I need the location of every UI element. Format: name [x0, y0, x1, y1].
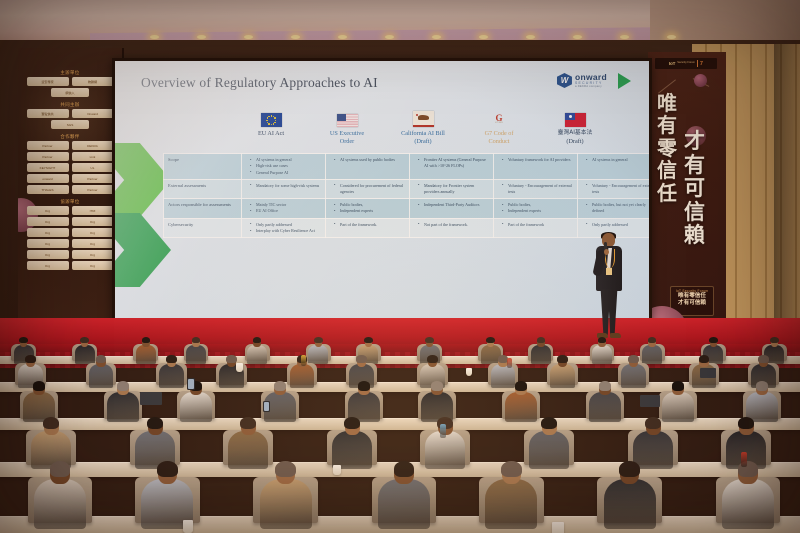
- column-header-label: Conduct: [461, 138, 537, 146]
- audience-person-hair: [314, 337, 323, 343]
- audience-person-body: [308, 345, 328, 364]
- table-cell: Independent Third-Party Auditors: [410, 199, 494, 219]
- audience-table: [0, 356, 800, 364]
- table-cell-bullet: Interplay with Cyber Resilience Act: [252, 228, 322, 234]
- audience-person-body: [722, 479, 774, 528]
- event-logo-number: 7: [700, 61, 703, 67]
- sponsor-logo-row: 網信入: [18, 88, 122, 97]
- table-cell: Mandatory for some high-risk systems: [242, 179, 326, 198]
- paper-cup: [552, 522, 564, 533]
- sponsor-section-heading: 協辦單位: [18, 199, 122, 205]
- sponsor-logo: onward: [27, 174, 69, 183]
- table-cell-bullet: Voluntary - Encouragement of external te…: [588, 183, 649, 195]
- paper-cup: [183, 520, 193, 533]
- ceiling-spotlight: [197, 35, 206, 39]
- audience-person-hair: [226, 355, 237, 363]
- audience-person-hair: [50, 461, 71, 477]
- sponsor-logo: Partner: [72, 185, 114, 194]
- audience-person-hair: [80, 337, 89, 343]
- table-cell: Part of the framework: [494, 218, 578, 238]
- sponsor-logo: Org: [27, 228, 69, 237]
- audience-person-hair: [515, 381, 528, 391]
- ceiling-spotlight: [150, 35, 159, 39]
- sponsor-logo: Partner: [27, 152, 69, 161]
- column-header: US ExecutiveOrder: [309, 109, 385, 146]
- table-row: ScopeAI systems in generalHigh-risk use …: [164, 154, 650, 180]
- audience-person-hair: [157, 461, 178, 477]
- sponsor-logo-row: OrgOrg: [18, 261, 122, 270]
- event-logo-main: IoT: [669, 61, 675, 66]
- sponsor-logo-row: SGS: [18, 120, 122, 129]
- column-header-label: (Draft): [385, 138, 461, 146]
- audience-person-body: [633, 431, 673, 469]
- table-cell-bullet: High-risk use cases: [252, 163, 322, 169]
- column-header: 臺灣AI基本法(Draft): [537, 109, 613, 146]
- table-cell-bullet: Mainly TIC sector: [252, 202, 322, 208]
- ceiling-spotlight: [338, 35, 347, 39]
- audience-person-body: [290, 364, 315, 388]
- table-cell-bullet: Public bodies, but not yet clearly defin…: [588, 202, 649, 214]
- drink-bottle: [440, 424, 446, 438]
- audience-person-body: [260, 479, 312, 528]
- audience-person-body: [621, 364, 646, 388]
- paper-cup: [333, 465, 341, 475]
- table-row-label: Scope: [164, 154, 242, 180]
- ceiling-spotlight: [667, 35, 676, 39]
- regulatory-comparison-table: ScopeAI systems in generalHigh-risk use …: [163, 153, 649, 238]
- table-cell-bullet: Voluntary - Encouragement of external te…: [504, 183, 574, 195]
- table-cell-bullet: Part of the framework: [504, 222, 574, 228]
- ceiling-spotlight: [479, 35, 488, 39]
- table-cell-bullet: Independent experts: [504, 208, 574, 214]
- table-row: External assessmentsMandatory for some h…: [164, 179, 650, 198]
- event-logo-divider: [697, 60, 698, 67]
- table-cell: AI systems used by public bodies: [326, 154, 410, 180]
- audience-person-hair: [96, 355, 107, 363]
- play-triangle-icon: [618, 73, 631, 89]
- column-header-label: Order: [309, 138, 385, 146]
- sponsor-section-heading: 主辦單位: [18, 70, 122, 76]
- table-cell-bullet: Mandatory for some high-risk systems: [252, 183, 322, 189]
- audience-person-hair: [117, 381, 130, 391]
- table-cell-bullet: Not part of the framework.: [420, 222, 490, 228]
- audience-person-body: [589, 392, 620, 422]
- audience-person-body: [107, 392, 138, 422]
- audience-person-hair: [43, 417, 59, 429]
- audience-person-hair: [599, 381, 612, 391]
- column-header-label: (Draft): [537, 138, 613, 146]
- audience-person-body: [247, 345, 267, 364]
- table-cell: Voluntary - Encouragement of external te…: [578, 179, 650, 198]
- sponsor-logo-row: KEYSIGHTUL: [18, 163, 122, 172]
- column-header-spacer: [163, 109, 233, 146]
- audience-person-hair: [699, 355, 710, 363]
- sponsor-logo-row: OrgITRI: [18, 206, 122, 215]
- event-banner: IoT Security Forum 7 唯有零信任 才有可信賴 IoT Sec…: [648, 52, 726, 340]
- column-header-label: California AI Bill: [385, 130, 461, 138]
- onward-hex-letter: W: [561, 76, 569, 85]
- table-cell-bullet: Frontier AI systems (General Purpose AI …: [420, 157, 490, 169]
- table-cell-bullet: EU AI Office: [252, 208, 322, 214]
- table-cell-bullet: Part of the framework.: [336, 222, 406, 228]
- audience-person-hair: [619, 461, 640, 477]
- sponsor-logo-row: 實電信共Onward: [18, 109, 122, 118]
- table-cell-bullet: Public bodies,: [504, 202, 574, 208]
- audience-person-hair: [19, 337, 28, 343]
- ceiling-spotlight: [620, 35, 629, 39]
- audience-person-hair: [770, 337, 779, 343]
- drink-bottle: [741, 452, 747, 467]
- audience-person-body: [75, 345, 95, 364]
- drink-bottle: [507, 358, 512, 368]
- table-cell: Frontier AI systems (General Purpose AI …: [410, 154, 494, 180]
- audience-person-hair: [275, 461, 296, 477]
- audience-area: [0, 330, 800, 533]
- comparison-column-headers: EU AI ActUS ExecutiveOrderCalifornia AI …: [163, 109, 613, 146]
- table-cell: Voluntary framework for AI providers: [494, 154, 578, 180]
- audience-person-hair: [344, 417, 360, 429]
- taiwan-flag: [537, 111, 613, 127]
- drink-bottle: [301, 355, 306, 366]
- audience-person-hair: [253, 337, 262, 343]
- paper-cup: [236, 363, 243, 372]
- audience-person-hair: [425, 337, 434, 343]
- column-header-label: EU AI Act: [233, 130, 309, 138]
- table-row: CybersecurityOnly partly addressedInterp…: [164, 218, 650, 238]
- table-row: Actors responsible for assessmentsMainly…: [164, 199, 650, 219]
- audience-person-hair: [240, 417, 256, 429]
- speaker-badge: [606, 268, 612, 275]
- sponsor-logo: Partner: [72, 174, 114, 183]
- decor-planet: [694, 74, 707, 87]
- table-cell-bullet: Voluntary framework for AI providers: [504, 157, 574, 163]
- onward-hex-icon: W: [557, 73, 572, 88]
- ceiling-spotlight: [385, 35, 394, 39]
- column-header-label: G7 Code of: [461, 130, 537, 138]
- table-cell: Part of the framework.: [326, 218, 410, 238]
- audience-person-hair: [557, 355, 568, 363]
- column-header-label: US Executive: [309, 130, 385, 138]
- audience-person-body: [505, 392, 536, 422]
- laptop: [140, 392, 162, 405]
- eu-flag: [233, 111, 309, 127]
- onward-security-logo: W onward SECURITY a DEKRA company: [557, 73, 607, 88]
- sponsor-logo: KEYSIGHT: [27, 163, 69, 172]
- column-header: GG7 2023G7 Code ofConduct: [461, 109, 537, 146]
- table-cell: Mainly TIC sectorEU AI Office: [242, 199, 326, 219]
- audience-person-hair: [709, 337, 718, 343]
- audience-person-body: [159, 364, 184, 388]
- audience-person-hair: [756, 381, 769, 391]
- audience-person-body: [662, 392, 693, 422]
- table-row-label: External assessments: [164, 179, 242, 198]
- speaker-hand: [604, 249, 609, 255]
- g7-mark: GG7 2023: [461, 111, 537, 127]
- event-logo: IoT Security Forum 7: [655, 58, 717, 69]
- laptop: [640, 395, 660, 407]
- sponsor-logo: Partner: [27, 141, 69, 150]
- audience-person-hair: [672, 381, 685, 391]
- smartphone: [263, 401, 270, 412]
- audience-person-body: [485, 479, 537, 528]
- photo-scene: 主辦單位資安專家物聯網網信入共同主辦實電信共OnwardSGS合作夥伴Partn…: [0, 0, 800, 533]
- speaker: [591, 233, 627, 343]
- audience-person-body: [228, 431, 268, 469]
- sponsor-logo: 物聯網: [72, 77, 114, 86]
- audience-person-hair: [427, 355, 438, 363]
- table-cell-bullet: Independent experts: [336, 208, 406, 214]
- sponsor-wall: 主辦單位資安專家物聯網網信入共同主辦實電信共OnwardSGS合作夥伴Partn…: [18, 48, 124, 340]
- sponsor-logo-row: 資安專家物聯網: [18, 77, 122, 86]
- audience-person-hair: [598, 337, 607, 343]
- audience-person-hair: [541, 417, 557, 429]
- audience-person-body: [529, 431, 569, 469]
- audience-person-hair: [394, 461, 415, 477]
- audience-person-body: [332, 431, 372, 469]
- audience-person-body: [136, 345, 156, 364]
- table-row-label: Actors responsible for assessments: [164, 199, 242, 219]
- sponsor-section-heading: 共同主辦: [18, 102, 122, 108]
- sponsor-logo: 網信入: [51, 88, 89, 97]
- table-cell: Public bodies, but not yet clearly defin…: [578, 199, 650, 219]
- wood-wall-shadow: [774, 44, 800, 344]
- sponsor-logo-row: OrgOrg: [18, 250, 122, 259]
- audience-person-body: [89, 364, 114, 388]
- sponsor-logo-row: OrgOrg: [18, 228, 122, 237]
- sponsor-logo: Org: [72, 239, 114, 248]
- sponsor-logo: 實電信共: [27, 109, 69, 118]
- onward-logo-tagline: a DEKRA company: [575, 85, 607, 88]
- table-cell: Considered for procurement of federal ag…: [326, 179, 410, 198]
- table-cell: Only partly addressedInterplay with Cybe…: [242, 218, 326, 238]
- sponsor-logo-row: OrgOrg: [18, 217, 122, 226]
- audience-person-hair: [628, 355, 639, 363]
- sponsor-logo: Link: [72, 152, 114, 161]
- table-cell: Mandatory for Frontier system providers …: [410, 179, 494, 198]
- audience-person-hair: [192, 337, 201, 343]
- sponsor-logo: SGS: [51, 120, 89, 129]
- audience-person-hair: [758, 355, 769, 363]
- sponsor-logo-row: OrgOrg: [18, 239, 122, 248]
- us-flag: [309, 111, 385, 127]
- sponsor-logo: Org: [72, 261, 114, 270]
- banner-headline-right: 才有可信賴: [684, 130, 716, 248]
- laptop: [700, 368, 716, 378]
- audience-person-hair: [358, 381, 371, 391]
- table-cell-bullet: AI systems in general: [588, 157, 649, 163]
- audience-person-body: [186, 345, 206, 364]
- slide-title: Overview of Regulatory Approaches to AI: [141, 75, 378, 91]
- phone-screen: [188, 379, 194, 389]
- table-cell: AI systems in generalHigh-risk use cases…: [242, 154, 326, 180]
- audience-person-hair: [431, 381, 444, 391]
- ceiling-spotlight: [291, 35, 300, 39]
- sponsor-logo-row: PartnerDEKRA: [18, 141, 122, 150]
- sponsor-logo: Org: [27, 239, 69, 248]
- sponsor-logo: UL: [72, 163, 114, 172]
- phone-screen: [264, 402, 269, 411]
- column-header: EU AI Act: [233, 109, 309, 146]
- banner-sub-badge-line1: 唯有零信任: [673, 293, 711, 300]
- audience-person-hair: [501, 461, 522, 477]
- table-cell-bullet: Mandatory for Frontier system providers …: [420, 183, 490, 195]
- column-header: California AI Bill(Draft): [385, 109, 461, 146]
- sponsor-logo-row: THALESPartner: [18, 185, 122, 194]
- audience-person-hair: [364, 337, 373, 343]
- ceiling-spotlight: [526, 35, 535, 39]
- sponsor-logo: Org: [72, 228, 114, 237]
- sponsor-logo-row: PartnerLink: [18, 152, 122, 161]
- table-cell: AI systems in general: [578, 154, 650, 180]
- sponsor-logo-row: onwardPartner: [18, 174, 122, 183]
- audience-person-hair: [738, 417, 754, 429]
- sponsor-logo: Org: [27, 261, 69, 270]
- projection-screen: Overview of Regulatory Approaches to AI …: [115, 61, 649, 337]
- sponsor-logo: Onward: [72, 109, 114, 118]
- sponsor-logo: DEKRA: [72, 141, 114, 150]
- audience-person-hair: [166, 355, 177, 363]
- audience-person-hair: [537, 337, 546, 343]
- sponsor-logo: ITRI: [72, 206, 114, 215]
- sponsor-logo: Org: [72, 217, 114, 226]
- paper-cup: [466, 368, 472, 376]
- sponsor-logo: Org: [27, 217, 69, 226]
- sponsor-section-heading: 合作夥伴: [18, 134, 122, 140]
- table-cell-bullet: Public bodies,: [336, 202, 406, 208]
- audience-person-body: [531, 345, 551, 364]
- table-cell: Public bodies,Independent experts: [494, 199, 578, 219]
- audience-person-hair: [142, 337, 151, 343]
- column-header-label: 臺灣AI基本法: [537, 130, 613, 138]
- table-cell: Not part of the framework.: [410, 218, 494, 238]
- table-cell-bullet: Only partly addressed: [588, 222, 649, 228]
- banner-headline-left: 唯有零信任: [657, 92, 683, 204]
- audience-person-hair: [356, 355, 367, 363]
- table-cell-bullet: Only partly addressed: [252, 222, 322, 228]
- speaker-legs: [599, 289, 619, 335]
- audience-person-hair: [25, 355, 36, 363]
- ceiling-spotlight: [244, 35, 253, 39]
- audience-person-body: [642, 345, 662, 364]
- sponsor-logo: THALES: [27, 185, 69, 194]
- audience-person-hair: [147, 417, 163, 429]
- audience-person-body: [592, 345, 612, 364]
- banner-sub-badge-line2: 才有可信賴: [673, 300, 711, 307]
- audience-person-body: [34, 479, 86, 528]
- audience-person-hair: [33, 381, 46, 391]
- audience-person-hair: [645, 417, 661, 429]
- california-flag: [385, 111, 461, 127]
- table-cell-bullet: General Purpose AI: [252, 170, 322, 176]
- audience-person-body: [491, 364, 516, 388]
- audience-person-body: [604, 479, 656, 528]
- ceiling-spotlight: [432, 35, 441, 39]
- audience-person-body: [180, 392, 211, 422]
- event-logo-sub: Security Forum: [677, 62, 695, 65]
- audience-person-body: [378, 479, 430, 528]
- sponsor-logo: 資安專家: [27, 77, 69, 86]
- audience-person-hair: [486, 337, 495, 343]
- table-cell: Voluntary - Encouragement of external te…: [494, 179, 578, 198]
- table-cell: Public bodies,Independent experts: [326, 199, 410, 219]
- table-cell-bullet: Considered for procurement of federal ag…: [336, 183, 406, 195]
- sponsor-logo: Org: [27, 206, 69, 215]
- table-cell-bullet: AI systems used by public bodies: [336, 157, 406, 163]
- table-row-label: Cybersecurity: [164, 218, 242, 238]
- table-cell-bullet: AI systems in general: [252, 157, 322, 163]
- audience-person-body: [550, 364, 575, 388]
- ceiling-spotlight: [573, 35, 582, 39]
- sponsor-logo: Org: [27, 250, 69, 259]
- sponsor-logo: Org: [72, 250, 114, 259]
- audience-person-hair: [274, 381, 287, 391]
- smartphone: [187, 378, 195, 390]
- table-cell-bullet: Independent Third-Party Auditors: [420, 202, 490, 208]
- audience-person-hair: [648, 337, 657, 343]
